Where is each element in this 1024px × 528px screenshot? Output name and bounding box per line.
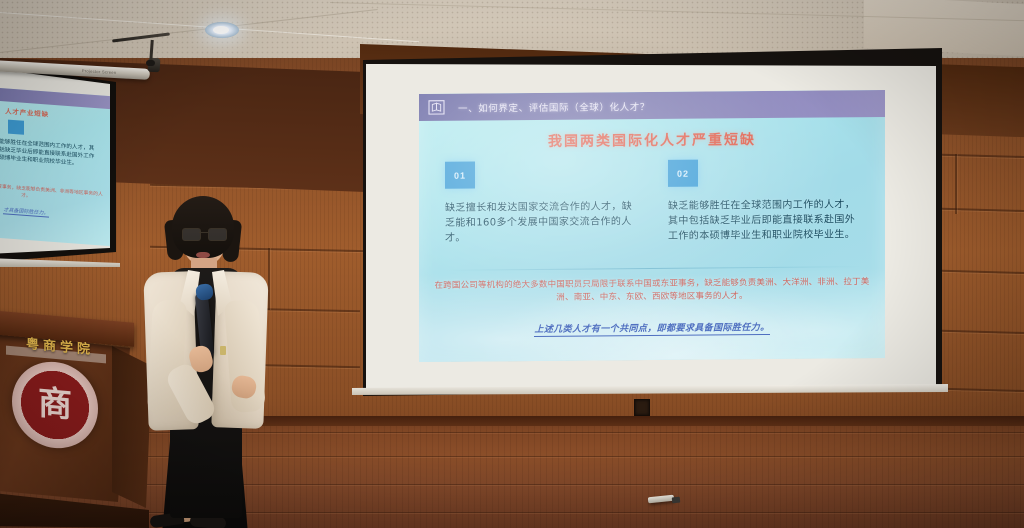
secondary-slide: 人才产业短缺 缺乏能够胜任在全球范围内工作的人才，其中包括缺乏毕业后即能直接联系… xyxy=(0,84,110,246)
wall-plank-seam xyxy=(955,154,957,214)
slide-title-bar: 一、如何界定、评估国际（全球）化人才？ xyxy=(419,90,885,121)
slide-conclusion-text: 上述几类人才有一个共同点，即都要求具备国际胜任力。 xyxy=(534,323,769,337)
secondary-projection-screen: 人才产业短缺 缺乏能够胜任在全球范围内工作的人才，其中包括缺乏毕业后即能直接联系… xyxy=(0,64,116,262)
eyeglasses-icon xyxy=(182,228,227,239)
secondary-screen-surface: 人才产业短缺 缺乏能够胜任在全球范围内工作的人才，其中包括缺乏毕业后即能直接联系… xyxy=(0,68,110,254)
ceiling-microphone-icon xyxy=(146,60,155,66)
open-book-icon xyxy=(428,100,445,115)
speaker-person xyxy=(132,196,282,528)
glasses-bridge xyxy=(199,232,208,233)
main-screen-surface: 一、如何界定、评估国际（全球）化人才？ 我国两类国际化人才严重短缺 01 缺乏擅… xyxy=(366,64,936,390)
pen-tip xyxy=(672,497,681,504)
wall-socket-icon xyxy=(634,399,650,416)
glasses-lens-left xyxy=(182,228,201,241)
recessed-downlight-icon xyxy=(205,22,239,38)
secondary-slide-conclusion: 才具备国际胜任力。 xyxy=(0,202,106,221)
secondary-slide-note: 只局限于联系中国或东亚事务，缺乏能够负责美洲、非洲等地区事务的人才。 xyxy=(0,180,106,206)
lectern-podium: 商 粤商学院 xyxy=(0,310,146,528)
slide-conclusion: 上述几类人才有一个共同点，即都要求具备国际胜任力。 xyxy=(433,316,871,338)
column-body-text: 缺乏能够胜任在全球范围内工作的人才，其中包括缺乏毕业后即能直接联系赴国外工作的本… xyxy=(668,197,861,244)
column-number-badge: 02 xyxy=(668,160,698,187)
roller-brand-label: Projector Screen xyxy=(82,68,117,75)
presentation-slide: 一、如何界定、评估国际（全球）化人才？ 我国两类国际化人才严重短缺 01 缺乏擅… xyxy=(419,90,885,362)
secondary-slide-number-box xyxy=(8,120,24,135)
slide-two-column-area: 01 缺乏擅长和发达国家交流合作的人才，缺乏能和160多个发展中国家交流合作的人… xyxy=(445,158,861,246)
slide-divider xyxy=(445,266,861,271)
column-body-text: 缺乏擅长和发达国家交流合作的人才，缺乏能和160多个发展中国家交流合作的人才。 xyxy=(445,199,638,246)
glasses-lens-right xyxy=(208,228,227,241)
main-projection-screen: 一、如何界定、评估国际（全球）化人才？ 我国两类国际化人才严重短缺 01 缺乏擅… xyxy=(357,48,943,396)
column-number-badge: 01 xyxy=(445,162,475,189)
slide-header-title: 一、如何界定、评估国际（全球）化人才？ xyxy=(458,99,650,115)
slide-main-heading: 我国两类国际化人才严重短缺 xyxy=(419,128,885,152)
slide-column-02: 02 缺乏能够胜任在全球范围内工作的人才，其中包括缺乏毕业后即能直接联系赴国外工… xyxy=(668,158,861,244)
secondary-slide-body-text: 缺乏能够胜任在全球范围内工作的人才，其中包括缺乏毕业后即能直接联系赴国外工作的本… xyxy=(0,137,98,169)
emblem-glyph: 商 xyxy=(38,386,72,423)
secondary-slide-conclusion-text: 才具备国际胜任力。 xyxy=(3,207,48,217)
lecture-hall-photo: 人才产业短缺 缺乏能够胜任在全球范围内工作的人才，其中包括缺乏毕业后即能直接联系… xyxy=(0,0,1024,528)
slide-column-01: 01 缺乏擅长和发达国家交流合作的人才，缺乏能和160多个发展中国家交流合作的人… xyxy=(445,160,638,246)
speaker-hair xyxy=(172,196,234,258)
slide-note-text: 在跨国公司等机构的绝大多数中国职员只局限于联系中国或东亚事务，缺乏能够负责美洲、… xyxy=(433,276,871,306)
speaker-lapel-badge xyxy=(220,346,226,355)
